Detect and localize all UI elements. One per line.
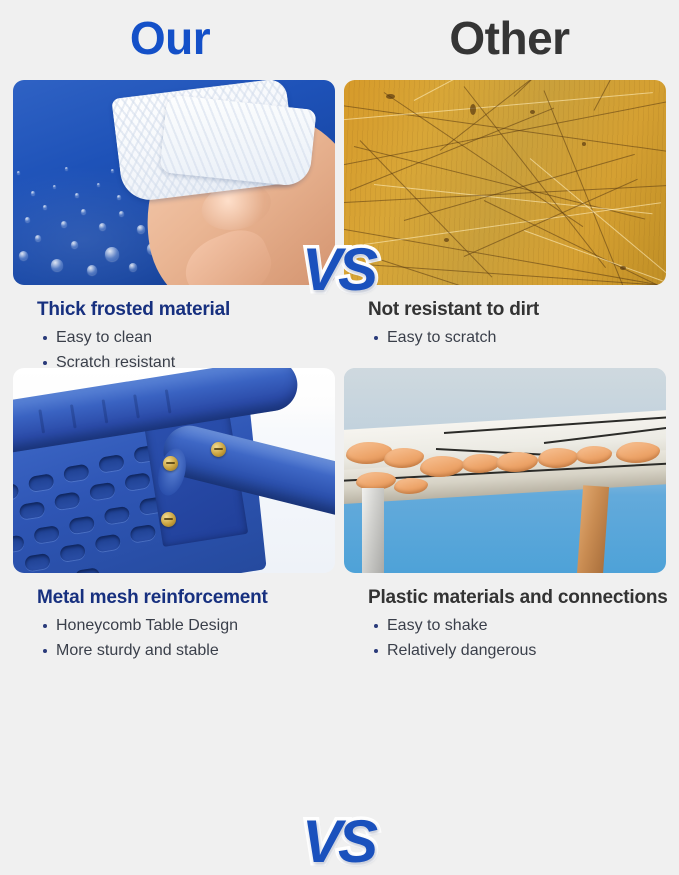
header-row: Our Other [0,0,679,78]
caption-bullet-list: Easy to shake Relatively dangerous [346,613,676,663]
vs-badge: VS [302,812,374,872]
comparison-row-1: Thick frosted material Easy to clean Scr… [0,80,679,368]
bullet-item: Easy to scratch [374,325,676,350]
bullet-item: Easy to clean [43,325,345,350]
frosted-surface-photo [13,80,335,285]
brass-screw [211,442,226,457]
comparison-cell-other-plastic: Plastic materials and connections Easy t… [344,368,666,573]
bullet-item: Relatively dangerous [374,638,676,663]
bullet-item: Easy to shake [374,613,676,638]
header-our-title: Our [0,8,340,68]
metal-table-leg [362,488,384,573]
caption-bullet-list: Honeycomb Table Design More sturdy and s… [15,613,345,663]
vs-badge: VS [302,240,374,300]
brass-screw [161,512,176,527]
metal-mesh-table-photo [13,368,335,573]
header-other-title: Other [340,8,679,68]
caption-other-wood: Not resistant to dirt Easy to scratch [346,288,676,350]
caption-our-frosted: Thick frosted material Easy to clean Scr… [15,288,345,375]
comparison-cell-other-wood: Not resistant to dirt Easy to scratch [344,80,666,285]
bullet-item: More sturdy and stable [43,638,345,663]
scratched-wood-photo [344,80,666,285]
scratch-marks-group [344,80,666,285]
caption-heading: Metal mesh reinforcement [37,586,345,609]
comparison-row-2: Metal mesh reinforcement Honeycomb Table… [0,368,679,679]
caption-heading: Plastic materials and connections [368,586,676,609]
cleaning-cloth-fold [159,94,316,187]
comparison-cell-our-mesh: Metal mesh reinforcement Honeycomb Table… [13,368,335,573]
caption-heading: Not resistant to dirt [368,298,676,321]
comparison-infographic: Our Other [0,0,679,679]
wooden-table-leg [577,485,609,573]
caption-bullet-list: Easy to scratch [346,325,676,350]
bullet-item: Honeycomb Table Design [43,613,345,638]
cracked-plastic-table-photo [344,368,666,573]
caption-heading: Thick frosted material [37,298,345,321]
caption-our-mesh: Metal mesh reinforcement Honeycomb Table… [15,576,345,663]
comparison-cell-our-frosted: Thick frosted material Easy to clean Scr… [13,80,335,285]
brass-screw [163,456,178,471]
caption-other-plastic: Plastic materials and connections Easy t… [346,576,676,663]
